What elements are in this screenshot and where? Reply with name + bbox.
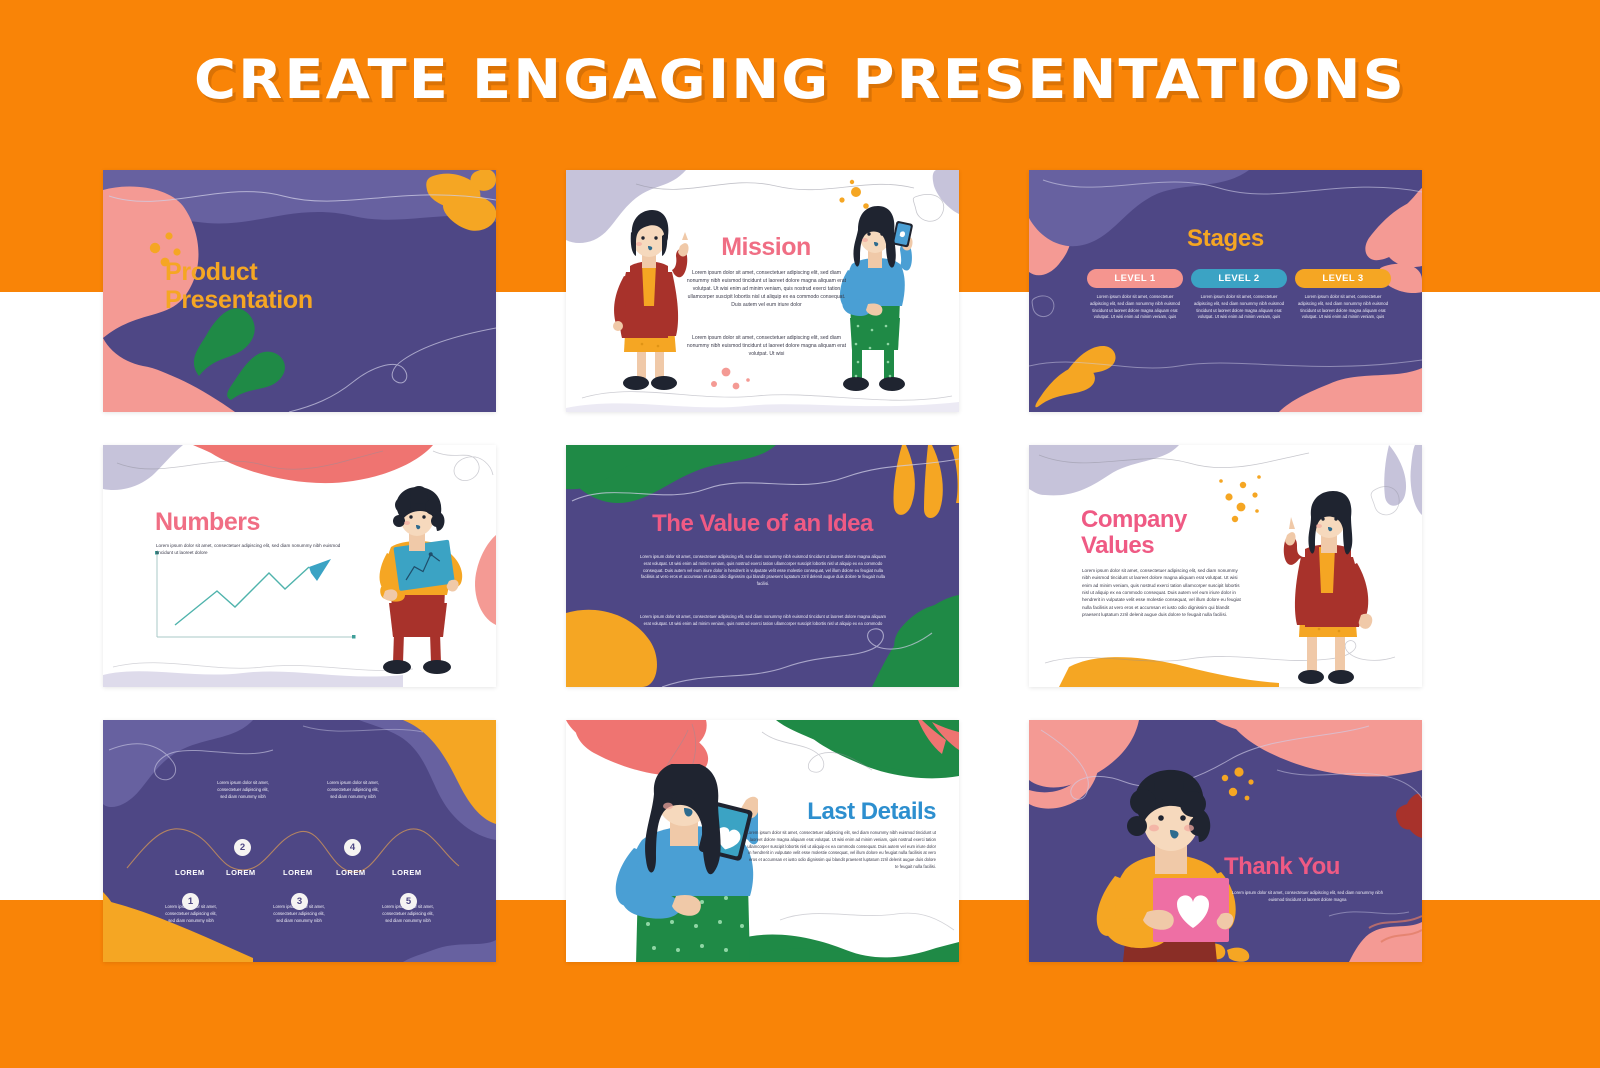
slide5-paragraph-1: Lorem ipsum dolor sit amet, consectetuer… (639, 554, 887, 588)
slide3-decoration (1029, 170, 1422, 412)
slide5-paragraph-2: Lorem ipsum dolor sit amet, consectetuer… (639, 614, 887, 628)
slide9-heading: Thank You (1224, 853, 1404, 881)
slide8-paragraph: Lorem ipsum dolor sit amet, consectetuer… (746, 830, 936, 871)
step-label-1: LOREM (175, 868, 205, 877)
slide6-heading-line2: Values (1081, 532, 1154, 559)
slide4-subtext: Lorem ipsum dolor sit amet, consectetuer… (156, 542, 341, 557)
character-pointing-woman (606, 202, 692, 398)
stage-text-level-1: Lorem ipsum dolor sit amet, consectetuer… (1089, 294, 1181, 321)
step-text-2: Lorem ipsum dolor sit amet, consectetuer… (215, 780, 271, 800)
step-label-4: LOREM (336, 868, 366, 877)
character-heart-card-woman (1081, 762, 1241, 962)
slide-stages[interactable]: Stages LEVEL 1 LEVEL 2 LEVEL 3 Lorem ips… (1029, 170, 1422, 412)
stage-pill-level-2[interactable]: LEVEL 2 (1191, 269, 1287, 288)
slide9-paragraph: Lorem ipsum dolor sit amet, consectetuer… (1225, 890, 1390, 904)
step-label-3: LOREM (283, 868, 313, 877)
character-tablet-woman (608, 764, 758, 962)
slide4-heading: Numbers (155, 508, 260, 537)
slide5-heading: The Value of an Idea (566, 510, 959, 538)
slide1-title-line1: Product (165, 258, 257, 286)
slide3-heading: Stages (1029, 225, 1422, 253)
step-text-3: Lorem ipsum dolor sit amet, consectetuer… (271, 904, 327, 924)
character-pointing-up-woman (1277, 487, 1387, 687)
slide4-decoration (103, 445, 496, 687)
slide6-paragraph: Lorem ipsum dolor sit amet, consectetuer… (1082, 567, 1245, 618)
step-text-1: Lorem ipsum dolor sit amet, consectetuer… (163, 904, 219, 924)
step-number-4[interactable]: 4 (344, 839, 361, 856)
stage-text-level-3: Lorem ipsum dolor sit amet, consectetuer… (1297, 294, 1389, 321)
stage-pill-level-1[interactable]: LEVEL 1 (1087, 269, 1183, 288)
slide6-heading-line1: Company (1081, 506, 1187, 533)
step-text-4: Lorem ipsum dolor sit amet, consectetuer… (325, 780, 381, 800)
slide-steps[interactable]: 1 2 3 4 5 LOREM LOREM LOREM LOREM LOREM … (103, 720, 496, 962)
slide-product-presentation[interactable]: Product Presentation (103, 170, 496, 412)
slide6-heading: Company Values (1081, 507, 1261, 560)
slide2-paragraph-2: Lorem ipsum dolor sit amet, consectetuer… (684, 335, 849, 359)
step-text-5: Lorem ipsum dolor sit amet, consectetuer… (380, 904, 436, 924)
slide7-decoration (103, 720, 496, 962)
slide1-title-line2: Presentation (165, 286, 313, 314)
slide-company-values[interactable]: Company Values Lorem ipsum dolor sit ame… (1029, 445, 1422, 687)
character-board-woman (373, 485, 483, 683)
stage-text-level-2: Lorem ipsum dolor sit amet, consectetuer… (1193, 294, 1285, 321)
slide9-decoration (1029, 720, 1422, 962)
slide-thank-you[interactable]: Thank You Lorem ipsum dolor sit amet, co… (1029, 720, 1422, 962)
stage-pill-level-3[interactable]: LEVEL 3 (1295, 269, 1391, 288)
slide-mission[interactable]: Mission Lorem ipsum dolor sit amet, cons… (566, 170, 959, 412)
slide1-title: Product Presentation (165, 258, 415, 314)
slide-last-details[interactable]: Last Details Lorem ipsum dolor sit amet,… (566, 720, 959, 962)
slide2-heading: Mission (676, 233, 856, 262)
slide8-heading: Last Details (756, 798, 936, 826)
slide-value-of-an-idea[interactable]: The Value of an Idea Lorem ipsum dolor s… (566, 445, 959, 687)
step-label-5: LOREM (392, 868, 422, 877)
step-label-2: LOREM (226, 868, 256, 877)
slide2-paragraph-1: Lorem ipsum dolor sit amet, consectetuer… (684, 270, 849, 309)
step-number-2[interactable]: 2 (234, 839, 251, 856)
slide-numbers[interactable]: Numbers Lorem ipsum dolor sit amet, cons… (103, 445, 496, 687)
slide6-decoration (1029, 445, 1422, 687)
page-title: CREATE ENGAGING PRESENTATIONS (0, 48, 1600, 111)
